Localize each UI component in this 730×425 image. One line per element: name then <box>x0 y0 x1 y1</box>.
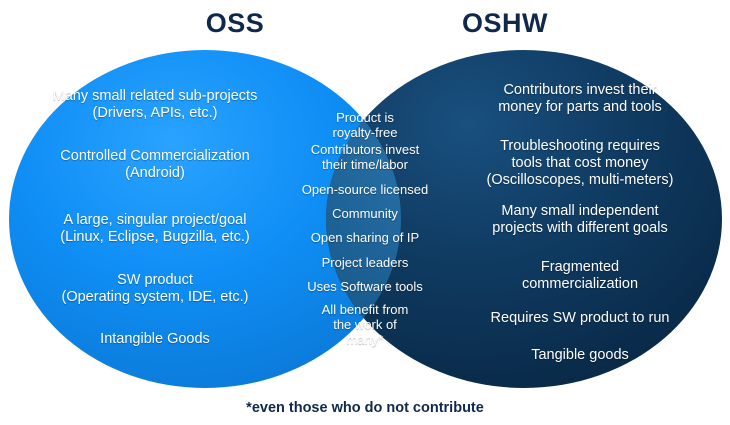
venn-diagram: OSS OSHW <box>0 0 730 425</box>
footnote: *even those who do not contribute <box>0 400 730 416</box>
venn-circles <box>0 0 730 425</box>
